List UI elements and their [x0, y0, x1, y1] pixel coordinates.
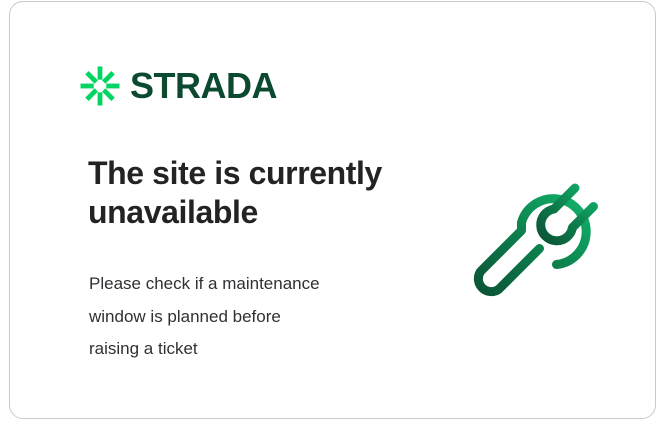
brand-wordmark: STRADA	[130, 68, 277, 104]
maintenance-page: STRADA The site is currently unavailable…	[0, 0, 666, 436]
status-card: STRADA The site is currently unavailable…	[9, 1, 656, 419]
strada-asterisk-icon	[80, 66, 120, 106]
brand-logo: STRADA	[80, 66, 277, 106]
message-body-line: window is planned before	[89, 301, 409, 334]
message-body-line: Please check if a maintenance	[89, 268, 409, 301]
wrench-icon	[462, 150, 628, 316]
message-body: Please check if a maintenance window is …	[89, 268, 409, 366]
message-body-line: raising a ticket	[89, 333, 409, 366]
page-title: The site is currently unavailable	[88, 154, 438, 232]
